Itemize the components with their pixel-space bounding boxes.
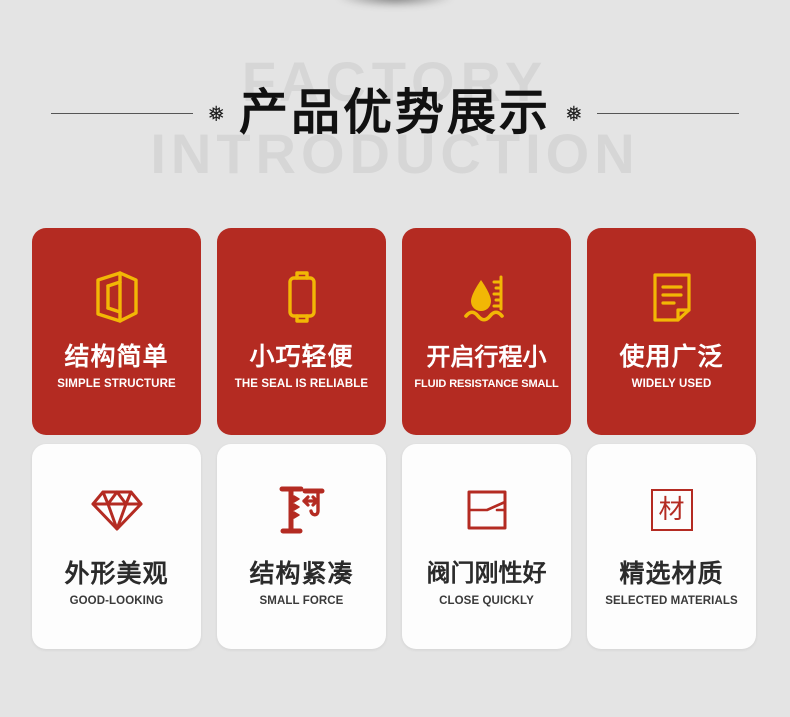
document-icon — [648, 266, 696, 328]
card-title: 结构紧凑 — [249, 561, 353, 589]
chart-square-icon — [463, 479, 511, 541]
advantage-card-good-looking[interactable]: 外形美观 GOOD-LOOKING — [32, 444, 201, 649]
card-subtitle: SMALL FORCE — [260, 595, 344, 608]
page-title: 产品优势展示 — [239, 89, 551, 138]
clamp-gauge-icon — [277, 479, 327, 541]
divider-line-right — [597, 113, 739, 114]
card-title: 阀门刚性好 — [427, 561, 547, 587]
diamond-icon — [89, 479, 145, 541]
material-glyph: 材 — [658, 497, 684, 523]
open-door-icon — [91, 266, 143, 328]
advantage-card-seal-reliable[interactable]: 小巧轻便 THE SEAL IS RELIABLE — [217, 228, 386, 435]
advantage-card-simple-structure[interactable]: 结构简单 SIMPLE STRUCTURE — [32, 228, 201, 435]
card-subtitle: WIDELY USED — [632, 378, 712, 391]
snowflake-icon-left: ❅ — [207, 104, 225, 125]
card-subtitle: THE SEAL IS RELIABLE — [235, 378, 368, 391]
card-subtitle: FLUID RESISTANCE SMALL — [414, 378, 558, 390]
advantage-card-grid: 结构简单 SIMPLE STRUCTURE 小巧轻便 THE SEAL IS R… — [32, 228, 759, 649]
snowflake-icon-right: ❅ — [565, 104, 583, 125]
divider-line-left — [51, 113, 193, 114]
card-title: 结构简单 — [64, 344, 168, 372]
title-row: ❅ 产品优势展示 ❅ — [0, 78, 790, 148]
material-cai-box-icon: 材 — [651, 479, 693, 541]
card-subtitle: CLOSE QUICKLY — [439, 595, 534, 608]
advantage-card-fluid-resistance[interactable]: 开启行程小 FLUID RESISTANCE SMALL — [402, 228, 571, 435]
advantage-card-widely-used[interactable]: 使用广泛 WIDELY USED — [587, 228, 756, 435]
card-subtitle: GOOD-LOOKING — [70, 595, 164, 608]
advantage-card-selected-materials[interactable]: 材 精选材质 SELECTED MATERIALS — [587, 444, 756, 649]
page-header: FACTORY INTRODUCTION ❅ 产品优势展示 ❅ — [0, 0, 790, 205]
card-title: 外形美观 — [64, 561, 168, 589]
advantage-card-small-force[interactable]: 结构紧凑 SMALL FORCE — [217, 444, 386, 649]
card-title: 使用广泛 — [619, 344, 723, 372]
card-title: 开启行程小 — [427, 345, 547, 371]
card-subtitle: SELECTED MATERIALS — [605, 595, 738, 608]
valve-body-icon — [280, 266, 324, 328]
water-drop-gauge-icon — [461, 267, 513, 329]
card-title: 精选材质 — [619, 561, 723, 589]
card-title: 小巧轻便 — [249, 344, 353, 372]
card-subtitle: SIMPLE STRUCTURE — [57, 378, 176, 391]
advantage-card-close-quickly[interactable]: 阀门刚性好 CLOSE QUICKLY — [402, 444, 571, 649]
